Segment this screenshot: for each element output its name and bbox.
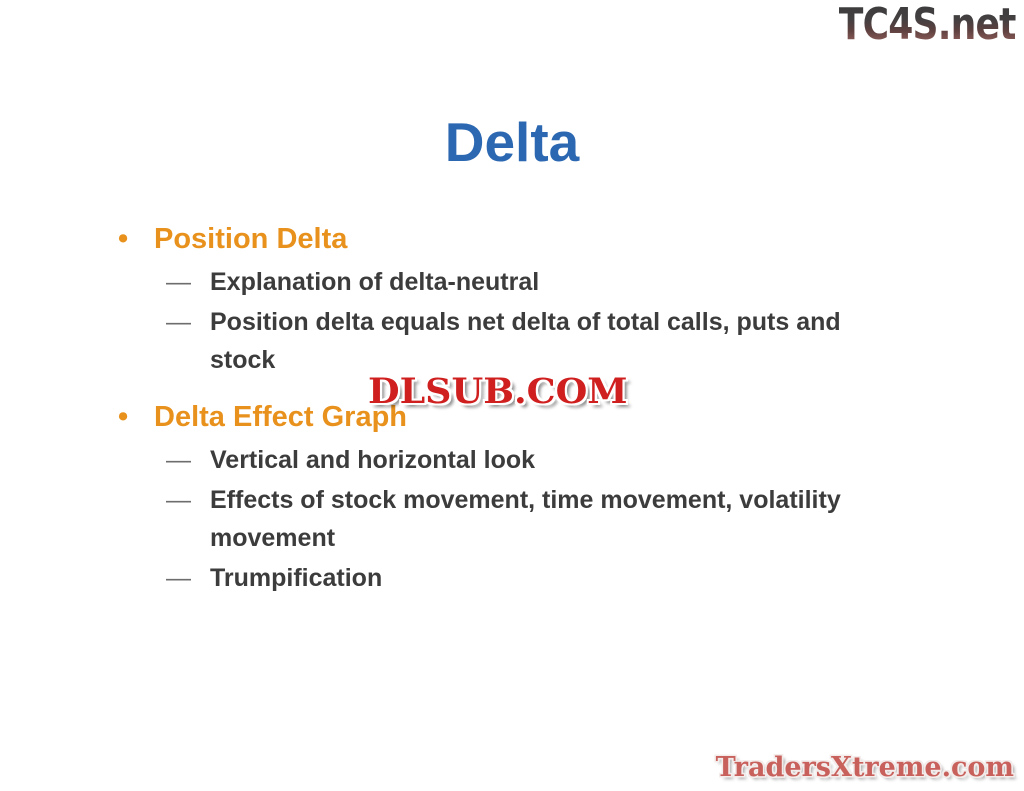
sub-bullet-label: Position delta equals net delta of total… [210,303,902,379]
sub-bullet-vertical-horizontal-look: — Vertical and horizontal look [112,441,902,479]
bullet-position-delta: • Position Delta [112,219,902,259]
em-dash-icon: — [166,441,191,479]
em-dash-icon: — [166,263,191,301]
presentation-slide: TC4S.net Delta • Position Delta — Explan… [0,0,1024,791]
sub-bullet-position-delta-equals: — Position delta equals net delta of tot… [112,303,902,379]
slide-title: Delta [0,110,1024,174]
sub-bullet-effects-of-stock-movement: — Effects of stock movement, time moveme… [112,481,902,557]
em-dash-icon: — [166,559,191,597]
sub-bullet-label: Vertical and horizontal look [210,441,902,479]
sub-bullet-label: Effects of stock movement, time movement… [210,481,902,557]
sub-bullet-explanation-delta-neutral: — Explanation of delta-neutral [112,263,902,301]
dlsub-watermark: DLSUB.COM [368,374,628,410]
bullet-dot-icon: • [118,219,128,259]
sub-bullet-label: Explanation of delta-neutral [210,263,902,301]
em-dash-icon: — [166,481,191,519]
tradersxtreme-watermark: TradersXtreme.com [716,753,1014,783]
bullet-dot-icon: • [118,397,128,437]
em-dash-icon: — [166,303,191,341]
sub-bullet-trumpification: — Trumpification [112,559,902,597]
bullet-label: Position Delta [154,223,347,255]
tc4s-watermark: TC4S.net [839,2,1016,48]
sub-bullet-label: Trumpification [210,559,902,597]
